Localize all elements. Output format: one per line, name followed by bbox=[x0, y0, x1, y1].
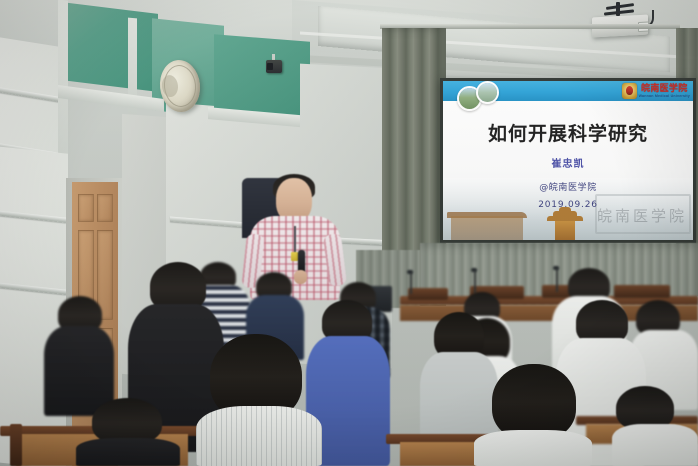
university-logo: 皖南医学院 Wannan Medical University bbox=[622, 82, 690, 100]
door-panel-1 bbox=[78, 194, 94, 222]
attendee-white-long-hair bbox=[196, 334, 322, 466]
attendee-front-left bbox=[76, 398, 180, 466]
pagoda-roof-1 bbox=[547, 216, 583, 221]
microphone-stand-2 bbox=[474, 270, 476, 294]
slide-title: 如何开展科学研究 bbox=[443, 123, 693, 145]
logo-english-name: Wannan Medical University bbox=[639, 94, 690, 98]
bench-foreground-post bbox=[10, 424, 22, 466]
presenter-lanyard bbox=[294, 226, 296, 252]
pagoda-roof-2 bbox=[553, 211, 577, 216]
projection-screen-frame: 皖南医学院 Wannan Medical University 皖南医学院 如何… bbox=[440, 78, 696, 243]
camera-lens bbox=[267, 63, 273, 70]
logo-chinese-name: 皖南医学院 bbox=[641, 85, 688, 94]
lecture-hall-photo: 皖南医学院 Wannan Medical University 皖南医学院 如何… bbox=[0, 0, 698, 466]
teal-panel-upper-left bbox=[62, 2, 158, 92]
microphone-head-2 bbox=[471, 268, 477, 272]
bench-backrest-1 bbox=[408, 288, 448, 300]
slide-affiliation: @皖南医学院 bbox=[443, 183, 693, 194]
door-panel-2 bbox=[97, 194, 113, 222]
attendee-shirt bbox=[76, 438, 180, 466]
attendee-hair bbox=[150, 262, 206, 310]
attendee-hair bbox=[492, 364, 576, 440]
campus-building-left bbox=[451, 216, 523, 240]
attendee-front-far-right bbox=[612, 386, 698, 466]
presentation-slide: 皖南医学院 Wannan Medical University 皖南医学院 如何… bbox=[443, 81, 693, 240]
attendee-shirt bbox=[474, 430, 592, 466]
pagoda-body bbox=[555, 220, 575, 240]
presenter-badge bbox=[291, 252, 298, 261]
attendee-shirt bbox=[196, 406, 322, 466]
microphone-stand-1 bbox=[410, 272, 412, 294]
university-emblem-icon bbox=[622, 83, 637, 99]
security-camera-icon bbox=[266, 60, 282, 73]
attendee-front-right-dark bbox=[474, 364, 592, 466]
slide-date: 2019.09.26 bbox=[443, 200, 693, 211]
campus-photo-circle-2 bbox=[476, 81, 499, 104]
attendee-shirt bbox=[612, 424, 698, 466]
microphone-head-1 bbox=[407, 270, 413, 274]
slide-author: 崔忠凯 bbox=[443, 159, 693, 171]
campus-photo-2 bbox=[478, 83, 497, 102]
